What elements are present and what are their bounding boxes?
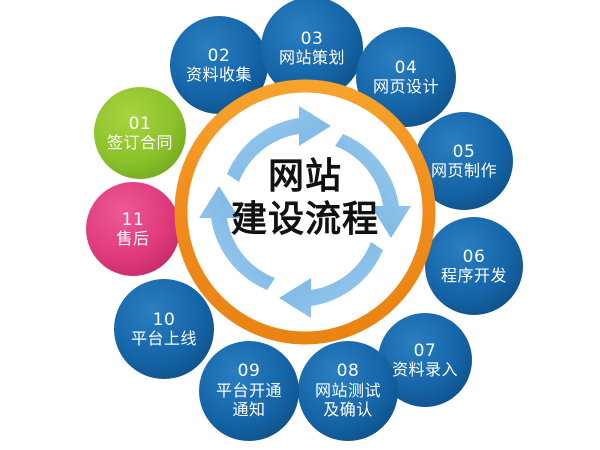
step-label-09: 平台开通 通知 (216, 382, 282, 420)
step-number-09: 09 (238, 362, 261, 380)
step-number-10: 10 (153, 311, 176, 329)
step-number-08: 08 (337, 362, 360, 380)
step-number-07: 07 (414, 342, 437, 360)
step-number-06: 06 (463, 248, 486, 266)
step-node-04[interactable]: 04网页设计 (356, 27, 456, 127)
step-node-09[interactable]: 09平台开通 通知 (199, 341, 299, 441)
step-number-02: 02 (208, 47, 231, 65)
step-node-11[interactable]: 11售后 (86, 182, 180, 276)
step-number-01: 01 (129, 115, 152, 133)
step-label-03: 网站策划 (279, 49, 345, 66)
step-number-03: 03 (301, 30, 324, 48)
step-node-06[interactable]: 06程序开发 (425, 217, 523, 315)
step-label-10: 平台上线 (131, 330, 197, 347)
center-title-line2: 建设流程 (200, 198, 410, 241)
center-title-line1: 网站 (200, 155, 410, 198)
step-number-05: 05 (453, 143, 476, 161)
step-label-11: 售后 (116, 230, 149, 247)
step-node-10[interactable]: 10平台上线 (114, 279, 214, 379)
step-node-08[interactable]: 08网站测试 及确认 (298, 341, 398, 441)
step-label-02: 资料收集 (186, 66, 252, 83)
step-node-02[interactable]: 02资料收集 (170, 16, 268, 114)
center-title: 网站 建设流程 (200, 155, 410, 241)
step-label-04: 网页设计 (373, 78, 439, 95)
step-label-06: 程序开发 (441, 267, 507, 284)
diagram-canvas: 01签订合同02资料收集03网站策划04网页设计05网页制作06程序开发07资料… (0, 0, 600, 450)
step-node-03[interactable]: 03网站策划 (261, 0, 363, 99)
step-label-08: 网站测试 及确认 (315, 382, 381, 420)
step-node-05[interactable]: 05网页制作 (415, 112, 513, 210)
step-node-01[interactable]: 01签订合同 (94, 87, 186, 179)
step-number-04: 04 (395, 59, 418, 77)
step-label-05: 网页制作 (431, 162, 497, 179)
step-label-01: 签订合同 (107, 134, 173, 151)
step-number-11: 11 (122, 211, 145, 229)
step-label-07: 资料录入 (392, 361, 458, 378)
